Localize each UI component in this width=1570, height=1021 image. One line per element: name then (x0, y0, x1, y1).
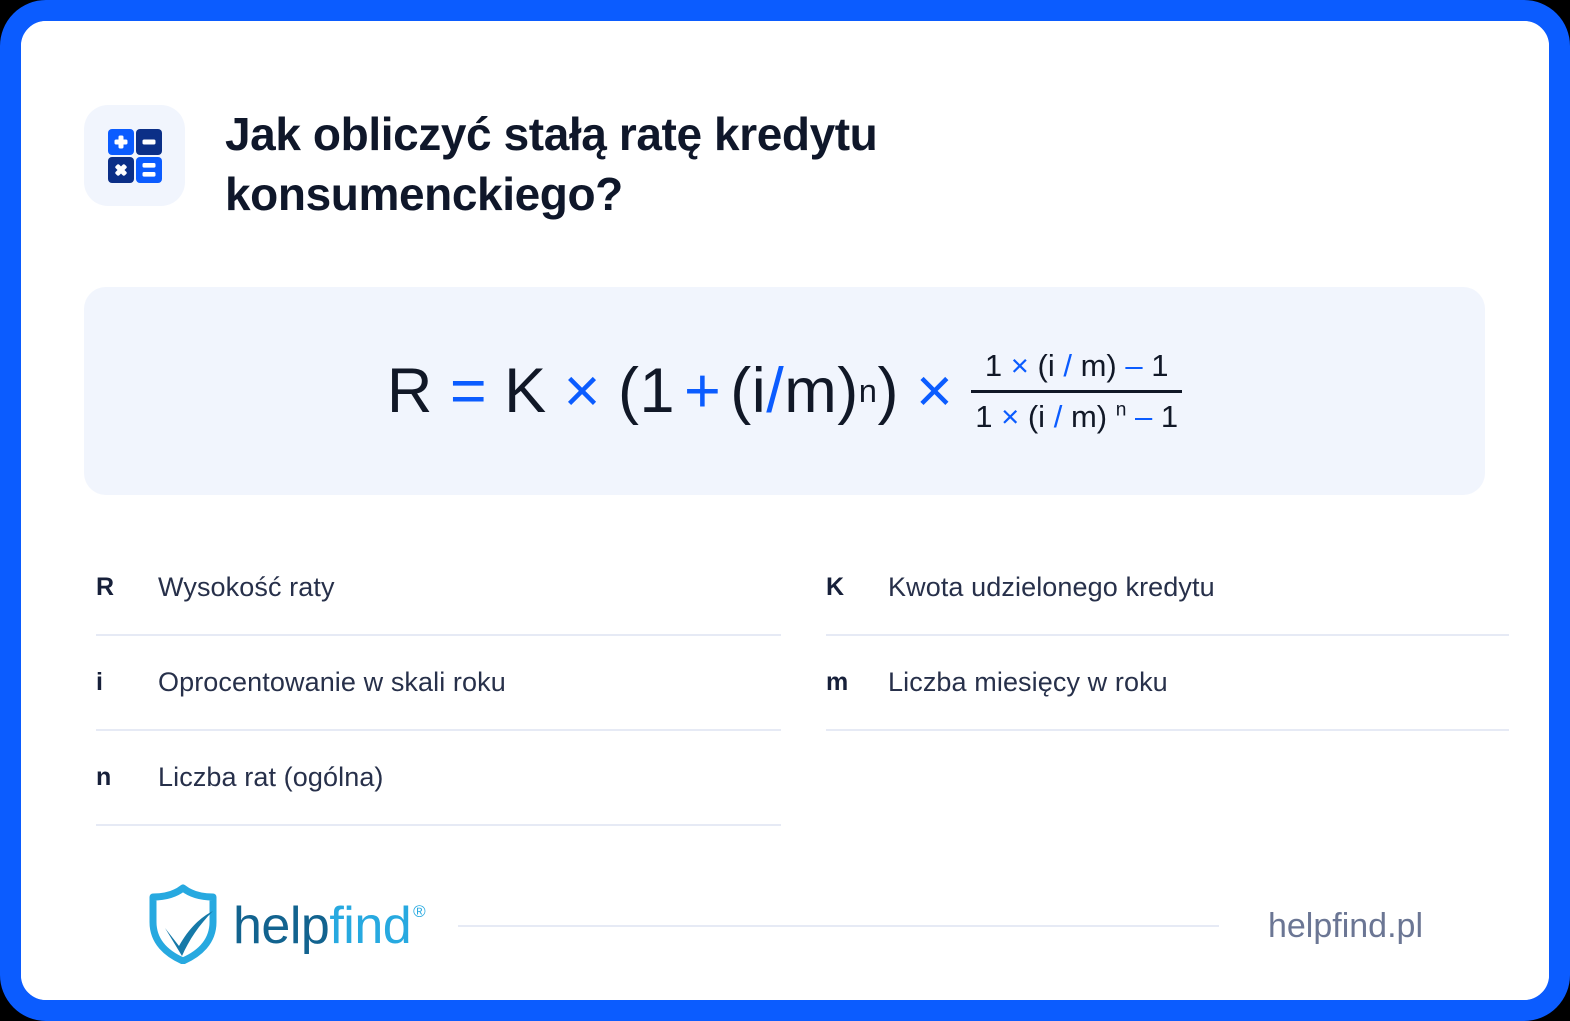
footer-divider (458, 925, 1219, 927)
legend-description: Liczba miesięcy w roku (888, 667, 1168, 698)
legend-description: Wysokość raty (158, 572, 335, 603)
formula-fraction: 1 × (i / m) – 1 1 × (i / m) (971, 348, 1182, 435)
denominator-m-close: m) (1071, 399, 1107, 434)
formula-panel: R = K × ( 1 + ( i / m ) n ) (84, 287, 1485, 495)
formula-token-close-paren-2: ) (837, 355, 858, 427)
calculator-icon-tile (84, 105, 185, 206)
brand-logo[interactable]: helpfind® (147, 884, 425, 969)
legend-description: Oprocentowanie w skali roku (158, 667, 506, 698)
legend-row: R Wysokość raty (96, 541, 781, 636)
denominator-one-b: 1 (1161, 399, 1178, 434)
numerator-one-a: 1 (985, 348, 1002, 383)
legend-row: m Liczba miesięcy w roku (826, 636, 1509, 731)
numerator-open: (i (1038, 348, 1055, 383)
legend: R Wysokość raty i Oprocentowanie w skali… (21, 541, 1549, 831)
denominator-exponent-n: n (1116, 399, 1127, 420)
numerator-slash: / (1063, 348, 1072, 383)
header: Jak obliczyć stałą ratę kredytu konsumen… (84, 105, 1125, 225)
formula-token-close-paren: ) (877, 355, 898, 427)
legend-symbol: n (96, 763, 158, 792)
denominator-times: × (1001, 399, 1019, 434)
legend-symbol: i (96, 668, 158, 697)
formula-token-times-1: × (564, 355, 601, 427)
legend-row: i Oprocentowanie w skali roku (96, 636, 781, 731)
formula-expression: R = K × ( 1 + ( i / m ) n ) (387, 348, 1182, 435)
formula-token-open-paren-2: ( (730, 355, 751, 427)
denominator-one-a: 1 (975, 399, 992, 434)
formula-token-i: i (752, 355, 767, 427)
formula-token-times-2: × (916, 355, 953, 427)
formula-token-one: 1 (639, 355, 675, 427)
legend-symbol: m (826, 668, 888, 697)
legend-column-left: R Wysokość raty i Oprocentowanie w skali… (96, 541, 781, 826)
formula-token-R: R (387, 355, 433, 427)
legend-column-right: K Kwota udzielonego kredytu m Liczba mie… (826, 541, 1509, 731)
legend-symbol: R (96, 573, 158, 602)
numerator-times: × (1011, 348, 1029, 383)
brand-word-help: help (233, 896, 329, 956)
registered-mark-icon: ® (413, 902, 425, 922)
formula-token-m: m (784, 355, 837, 427)
formula-token-K: K (504, 355, 547, 427)
fraction-numerator: 1 × (i / m) – 1 (971, 348, 1182, 390)
numerator-m-close: m) (1081, 348, 1117, 383)
legend-symbol: K (826, 573, 888, 602)
denominator-open: (i (1028, 399, 1045, 434)
card-inner-surface: Jak obliczyć stałą ratę kredytu konsumen… (21, 21, 1549, 1000)
formula-token-slash: / (766, 355, 784, 427)
footer: helpfind® helpfind.pl (21, 876, 1549, 976)
calculator-icon (107, 128, 163, 184)
legend-row: K Kwota udzielonego kredytu (826, 541, 1509, 636)
legend-description: Kwota udzielonego kredytu (888, 572, 1215, 603)
brand-word-find: find (329, 896, 411, 956)
formula-token-equals: = (450, 355, 487, 427)
shield-check-icon (147, 884, 219, 969)
denominator-minus: – (1135, 399, 1152, 434)
formula-token-plus: + (684, 355, 721, 427)
footer-url[interactable]: helpfind.pl (1268, 907, 1423, 946)
legend-description: Liczba rat (ogólna) (158, 762, 384, 793)
denominator-slash: / (1054, 399, 1063, 434)
numerator-minus: – (1125, 348, 1142, 383)
numerator-one-b: 1 (1151, 348, 1168, 383)
formula-token-open-paren: ( (618, 355, 639, 427)
fraction-denominator: 1 × (i / m) n – 1 (971, 393, 1182, 435)
legend-row: n Liczba rat (ogólna) (96, 731, 781, 826)
brand-wordmark: helpfind® (233, 896, 425, 956)
page-title: Jak obliczyć stałą ratę kredytu konsumen… (225, 105, 1125, 225)
infographic-card: Jak obliczyć stałą ratę kredytu konsumen… (0, 0, 1570, 1021)
